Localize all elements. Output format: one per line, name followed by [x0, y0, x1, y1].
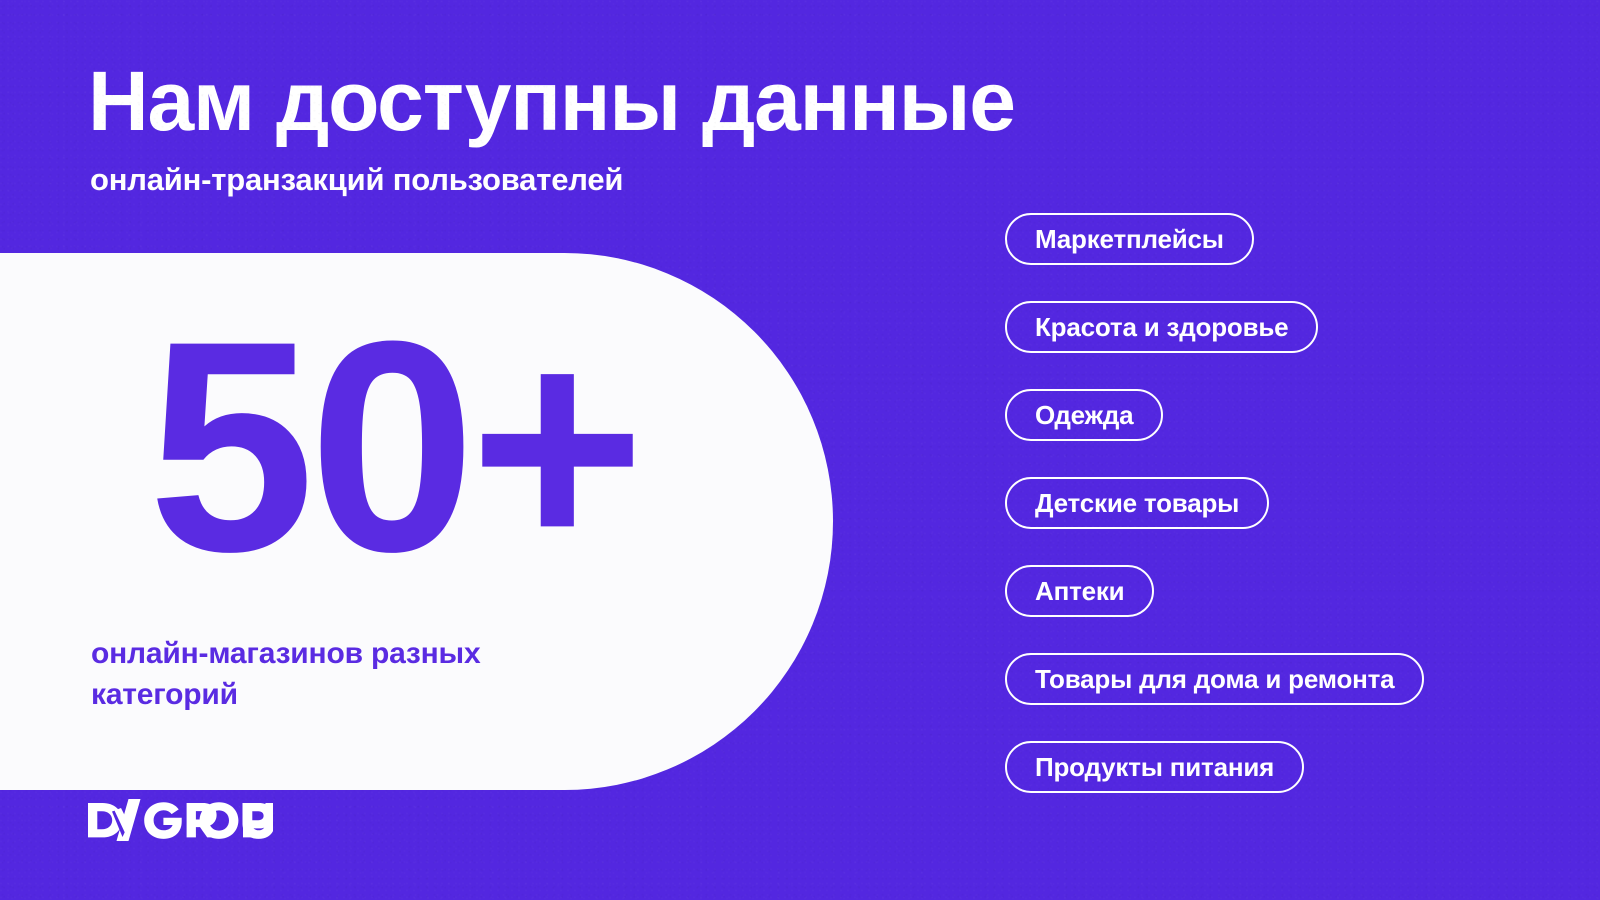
- stat-caption: онлайн-магазинов разных категорий: [91, 634, 571, 715]
- category-pill-groceries[interactable]: Продукты питания: [1005, 741, 1304, 793]
- brand-logo: [88, 798, 273, 842]
- category-pill-beauty-health[interactable]: Красота и здоровье: [1005, 301, 1318, 353]
- page-title: Нам доступны данные: [88, 59, 1015, 143]
- stat-value: 50+: [148, 296, 639, 596]
- page-subtitle: онлайн-транзакций пользователей: [90, 163, 623, 197]
- category-pill-home-repair[interactable]: Товары для дома и ремонта: [1005, 653, 1424, 705]
- category-pill-clothing[interactable]: Одежда: [1005, 389, 1163, 441]
- category-pill-marketplaces[interactable]: Маркетплейсы: [1005, 213, 1254, 265]
- category-pill-pharmacies[interactable]: Аптеки: [1005, 565, 1154, 617]
- slide-canvas: Нам доступны данные онлайн-транзакций по…: [0, 0, 1600, 900]
- category-pill-list: Маркетплейсы Красота и здоровье Одежда Д…: [1005, 213, 1424, 793]
- category-pill-kids-goods[interactable]: Детские товары: [1005, 477, 1269, 529]
- dvgroup-logo-icon: [88, 799, 273, 841]
